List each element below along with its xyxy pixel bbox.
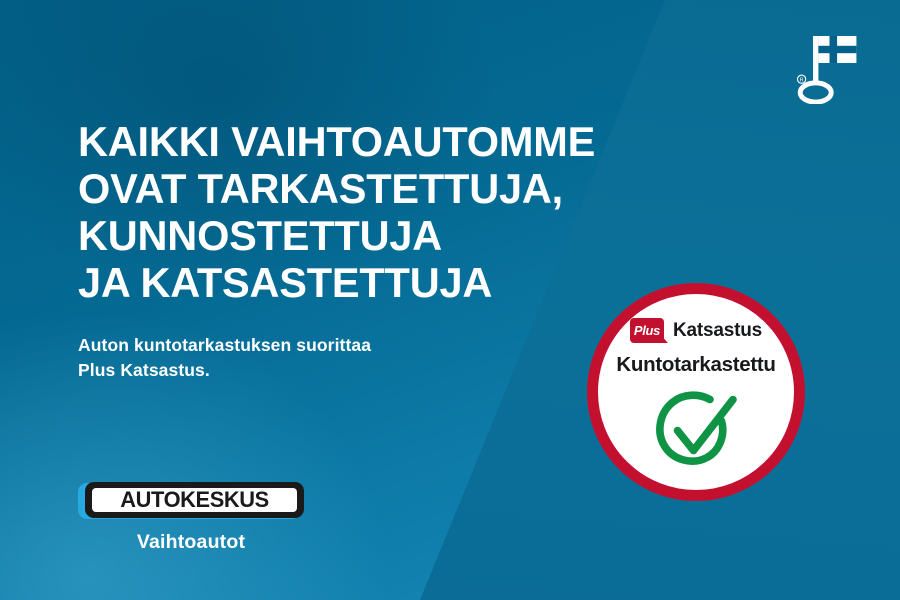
sub-brand-label: Vaihtoautot [78,531,304,554]
headline-line-1: KAIKKI VAIHTOAUTOMME [78,118,678,165]
plate-black-frame: AUTOKESKUS [85,482,304,518]
plus-katsastus-seal: Plus Katsastus Kuntotarkastettu [587,283,805,501]
headline-line-2: OVAT TARKASTETTUJA, [78,165,678,212]
green-check-circle-icon [650,386,742,472]
plus-logo-icon: Plus [630,318,668,343]
seal-claim-text: Kuntotarkastettu [616,353,775,377]
avainlippu-key-flag-icon: R [784,24,868,104]
plate-white-field: AUTOKESKUS [92,488,297,512]
promo-banner: R KAIKKI VAIHTOAUTOMME OVAT TARKASTETTUJ… [0,0,900,600]
subcopy-line-1: Auton kuntotarkastuksen suorittaa [78,333,678,358]
headline: KAIKKI VAIHTOAUTOMME OVAT TARKASTETTUJA,… [78,118,678,306]
plus-logo-box: Plus [630,318,664,343]
registered-symbol: R [800,78,804,84]
plus-logo-word: Plus [634,324,660,337]
seal-brand-text: Katsastus [673,320,762,342]
autokeskus-logo-lockup[interactable]: AUTOKESKUS Vaihtoautot [78,482,318,554]
plate-wordmark: AUTOKESKUS [120,489,269,511]
copy-block: KAIKKI VAIHTOAUTOMME OVAT TARKASTETTUJA,… [78,118,678,382]
seal-brand-row: Plus Katsastus [630,318,762,343]
headline-line-4: JA KATSASTETTUJA [78,259,678,306]
headline-line-3: KUNNOSTETTUJA [78,212,678,259]
autokeskus-plate: AUTOKESKUS [78,482,304,520]
